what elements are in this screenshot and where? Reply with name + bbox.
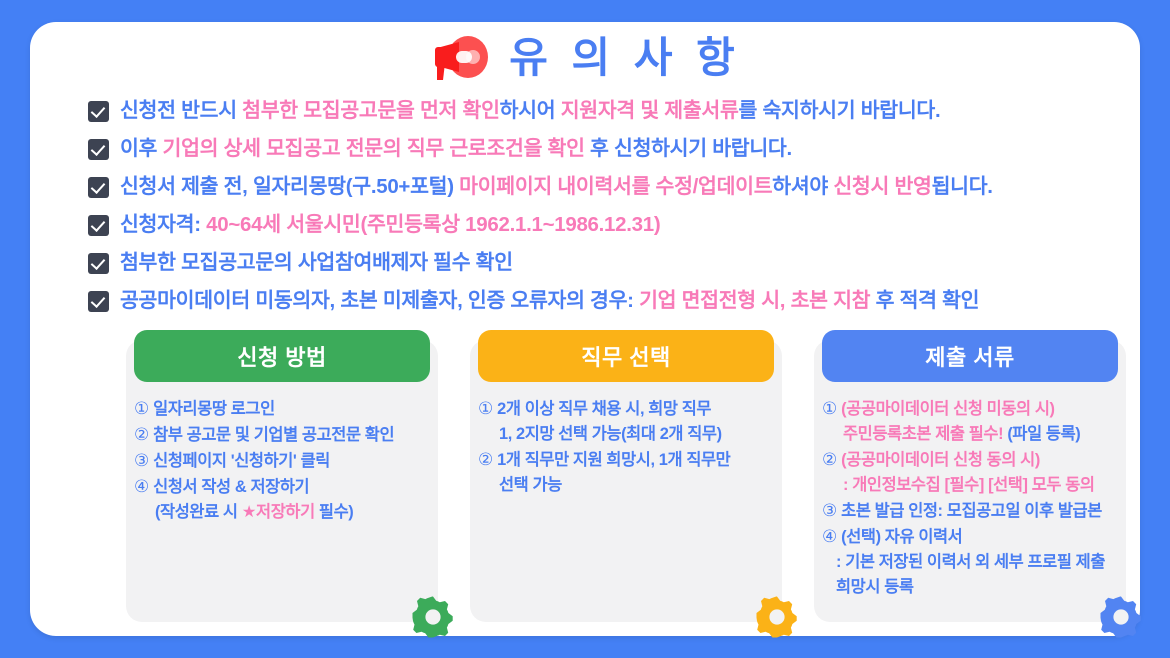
info-card-group: 신청 방법① 일자리몽땅 로그인② 참부 공고문 및 기업별 공고전문 확인③ … xyxy=(126,340,1126,622)
card-text-segment: 2개 이상 직무 채용 시, 희망 직무 xyxy=(497,400,711,418)
notice-text-segment: 후 적격 확인 xyxy=(870,289,979,312)
notice-item: 이후 기업의 상세 모집공고 전문의 직무 근로조건을 확인 후 신청하시기 바… xyxy=(88,136,1098,167)
card-title: 제출 서류 xyxy=(925,340,1015,372)
notice-item: 공공마이데이터 미동의자, 초본 미제출자, 인증 오류자의 경우: 기업 면접… xyxy=(88,288,1098,319)
card-text-segment: 필수) xyxy=(315,503,354,521)
check-box-icon xyxy=(88,215,109,236)
notice-text-segment: 첨부한 모집공고문을 먼저 확인 xyxy=(242,99,499,122)
poster-content-card: 유 의 사 항 신청전 반드시 첨부한 모집공고문을 먼저 확인하시어 지원자격… xyxy=(30,22,1140,636)
poster-header: 유 의 사 항 xyxy=(30,34,1140,82)
card-list-item: : 기본 저장된 이력서 외 세부 프로필 제출 xyxy=(822,550,1120,575)
notice-text-segment: 지원자격 및 제출서류 xyxy=(561,99,739,122)
card-list-item: (작성완료 시 ★저장하기 필수) xyxy=(134,500,432,525)
notice-text-segment: 후 신청하시기 바랍니다. xyxy=(585,137,792,160)
card-list-item: ④ 신청서 작성 & 저장하기 xyxy=(134,474,432,500)
notice-text-segment: 기업의 상세 모집공고 전문의 직무 근로조건을 확인 xyxy=(163,137,585,160)
card-text-segment: ② xyxy=(134,425,153,444)
gear-icon xyxy=(410,594,456,640)
gear-icon xyxy=(1098,594,1144,640)
notice-text-segment: 마이페이지 내이력서를 수정/업데이트 xyxy=(459,175,772,198)
card-text-segment: ★저장하기 xyxy=(242,503,315,521)
card-text-segment: ④ xyxy=(134,477,153,496)
card-text-segment: (작성완료 시 xyxy=(155,503,242,521)
notice-item: 신청서 제출 전, 일자리몽땅(구.50+포털) 마이페이지 내이력서를 수정/… xyxy=(88,174,1098,205)
gear-icon xyxy=(754,594,800,640)
card-list-item: ② 참부 공고문 및 기업별 공고전문 확인 xyxy=(134,422,432,448)
card-text-segment: 일자리몽땅 로그인 xyxy=(153,400,275,418)
check-box-icon xyxy=(88,101,109,122)
card-text-segment: 1개 직무만 지원 희망시, 1개 직무만 xyxy=(497,451,730,469)
card-text-segment: 신청서 작성 & 저장하기 xyxy=(153,478,309,496)
card-text-segment: ③ xyxy=(134,451,153,470)
card-list-item: 1, 2지망 선택 가능(최대 2개 직무) xyxy=(478,422,776,447)
card-text-segment: ② xyxy=(478,450,497,469)
card-text-segment: (선택) 자유 이력서 xyxy=(841,528,962,546)
card-list-item: ① (공공마이데이터 신청 미동의 시) xyxy=(822,396,1120,422)
notice-text-segment: 를 숙지하시기 바랍니다. xyxy=(739,99,941,122)
card-list-item: ① 2개 이상 직무 채용 시, 희망 직무 xyxy=(478,396,776,422)
card-body: ① 일자리몽땅 로그인② 참부 공고문 및 기업별 공고전문 확인③ 신청페이지… xyxy=(134,396,432,525)
notice-text-segment: 신청시 반영 xyxy=(833,175,931,198)
notice-text-segment: 신청전 반드시 xyxy=(120,99,242,122)
check-box-icon xyxy=(88,253,109,274)
card-text-segment: (파일 등록) xyxy=(1007,425,1080,443)
card-text-segment: 희망시 등록 xyxy=(836,578,914,596)
card-text-segment: ② xyxy=(822,450,841,469)
card-text-segment: 참부 공고문 및 기업별 공고전문 확인 xyxy=(153,426,394,444)
notice-text-segment: 이후 xyxy=(120,137,163,160)
notice-text-segment: 공공마이데이터 미동의자, 초본 미제출자, 인증 오류자의 경우: xyxy=(120,289,639,312)
notice-text-segment: 기업 면접전형 시, 초본 지참 xyxy=(639,289,870,312)
card-text-segment: (공공마이데이터 신청 미동의 시) xyxy=(841,400,1054,418)
card-text-segment: ① xyxy=(478,399,497,418)
card-list-item: : 개인정보수집 [필수] [선택] 모두 동의 xyxy=(822,473,1120,498)
notice-text: 신청서 제출 전, 일자리몽땅(구.50+포털) 마이페이지 내이력서를 수정/… xyxy=(120,174,993,200)
card-title: 직무 선택 xyxy=(581,340,671,372)
notice-text: 신청자격: 40~64세 서울시민(주민등록상 1962.1.1~1986.12… xyxy=(120,212,660,238)
card-text-segment: ④ xyxy=(822,527,841,546)
check-box-icon xyxy=(88,177,109,198)
card-text-segment: ① xyxy=(134,399,153,418)
card-header: 제출 서류 xyxy=(822,330,1118,382)
card-list-item: 희망시 등록 xyxy=(822,575,1120,600)
notice-item: 첨부한 모집공고문의 사업참여배제자 필수 확인 xyxy=(88,250,1098,281)
card-title: 신청 방법 xyxy=(237,340,327,372)
card-text-segment: 신청페이지 '신청하기' 클릭 xyxy=(153,452,330,470)
notice-text: 공공마이데이터 미동의자, 초본 미제출자, 인증 오류자의 경우: 기업 면접… xyxy=(120,288,979,314)
notice-text: 이후 기업의 상세 모집공고 전문의 직무 근로조건을 확인 후 신청하시기 바… xyxy=(120,136,792,162)
card-list-item: 주민등록초본 제출 필수! (파일 등록) xyxy=(822,422,1120,447)
notice-list: 신청전 반드시 첨부한 모집공고문을 먼저 확인하시어 지원자격 및 제출서류를… xyxy=(88,98,1098,326)
notice-text-segment: 됩니다. xyxy=(932,175,993,198)
info-card: 제출 서류① (공공마이데이터 신청 미동의 시)주민등록초본 제출 필수! (… xyxy=(814,340,1126,622)
card-list-item: ② (공공마이데이터 신청 동의 시) xyxy=(822,447,1120,473)
check-box-icon xyxy=(88,139,109,160)
card-body: ① 2개 이상 직무 채용 시, 희망 직무1, 2지망 선택 가능(최대 2개… xyxy=(478,396,776,498)
notice-text-segment: 신청서 제출 전, 일자리몽땅(구.50+포털) xyxy=(120,175,459,198)
card-body: ① (공공마이데이터 신청 미동의 시)주민등록초본 제출 필수! (파일 등록… xyxy=(822,396,1120,600)
info-card: 신청 방법① 일자리몽땅 로그인② 참부 공고문 및 기업별 공고전문 확인③ … xyxy=(126,340,438,622)
notice-text: 첨부한 모집공고문의 사업참여배제자 필수 확인 xyxy=(120,250,513,276)
card-text-segment: 주민등록초본 제출 필수! xyxy=(843,425,1007,443)
card-header: 신청 방법 xyxy=(134,330,430,382)
megaphone-icon xyxy=(429,34,491,82)
card-list-item: ③ 신청페이지 '신청하기' 클릭 xyxy=(134,448,432,474)
card-text-segment: 선택 가능 xyxy=(499,476,562,494)
card-list-item: ② 1개 직무만 지원 희망시, 1개 직무만 xyxy=(478,447,776,473)
notice-text-segment: 신청자격: xyxy=(120,213,206,236)
notice-text-segment: 하셔야 xyxy=(772,175,833,198)
card-list-item: ④ (선택) 자유 이력서 xyxy=(822,524,1120,550)
notice-item: 신청자격: 40~64세 서울시민(주민등록상 1962.1.1~1986.12… xyxy=(88,212,1098,243)
check-box-icon xyxy=(88,291,109,312)
notice-text-segment: 하시어 xyxy=(500,99,561,122)
page-title: 유 의 사 항 xyxy=(509,37,741,79)
card-text-segment: : 개인정보수집 [필수] [선택] 모두 동의 xyxy=(843,476,1095,494)
card-text-segment: (공공마이데이터 신청 동의 시) xyxy=(841,451,1040,469)
card-list-item: ③ 초본 발급 인정: 모집공고일 이후 발급본 xyxy=(822,498,1120,524)
card-text-segment: 1, 2지망 선택 가능(최대 2개 직무) xyxy=(499,425,722,443)
notice-text-segment: 40~64세 서울시민(주민등록상 1962.1.1~1986.12.31) xyxy=(206,213,660,236)
card-header: 직무 선택 xyxy=(478,330,774,382)
notice-poster: 유 의 사 항 신청전 반드시 첨부한 모집공고문을 먼저 확인하시어 지원자격… xyxy=(0,0,1170,658)
card-text-segment: ① xyxy=(822,399,841,418)
card-text-segment: : 기본 저장된 이력서 외 세부 프로필 제출 xyxy=(836,553,1105,571)
notice-text-segment: 첨부한 모집공고문의 사업참여배제자 필수 확인 xyxy=(120,251,513,274)
notice-text: 신청전 반드시 첨부한 모집공고문을 먼저 확인하시어 지원자격 및 제출서류를… xyxy=(120,98,940,124)
card-text-segment: 초본 발급 인정: 모집공고일 이후 발급본 xyxy=(841,502,1102,520)
card-list-item: 선택 가능 xyxy=(478,473,776,498)
card-list-item: ① 일자리몽땅 로그인 xyxy=(134,396,432,422)
card-text-segment: ③ xyxy=(822,501,841,520)
info-card: 직무 선택① 2개 이상 직무 채용 시, 희망 직무1, 2지망 선택 가능(… xyxy=(470,340,782,622)
notice-item: 신청전 반드시 첨부한 모집공고문을 먼저 확인하시어 지원자격 및 제출서류를… xyxy=(88,98,1098,129)
